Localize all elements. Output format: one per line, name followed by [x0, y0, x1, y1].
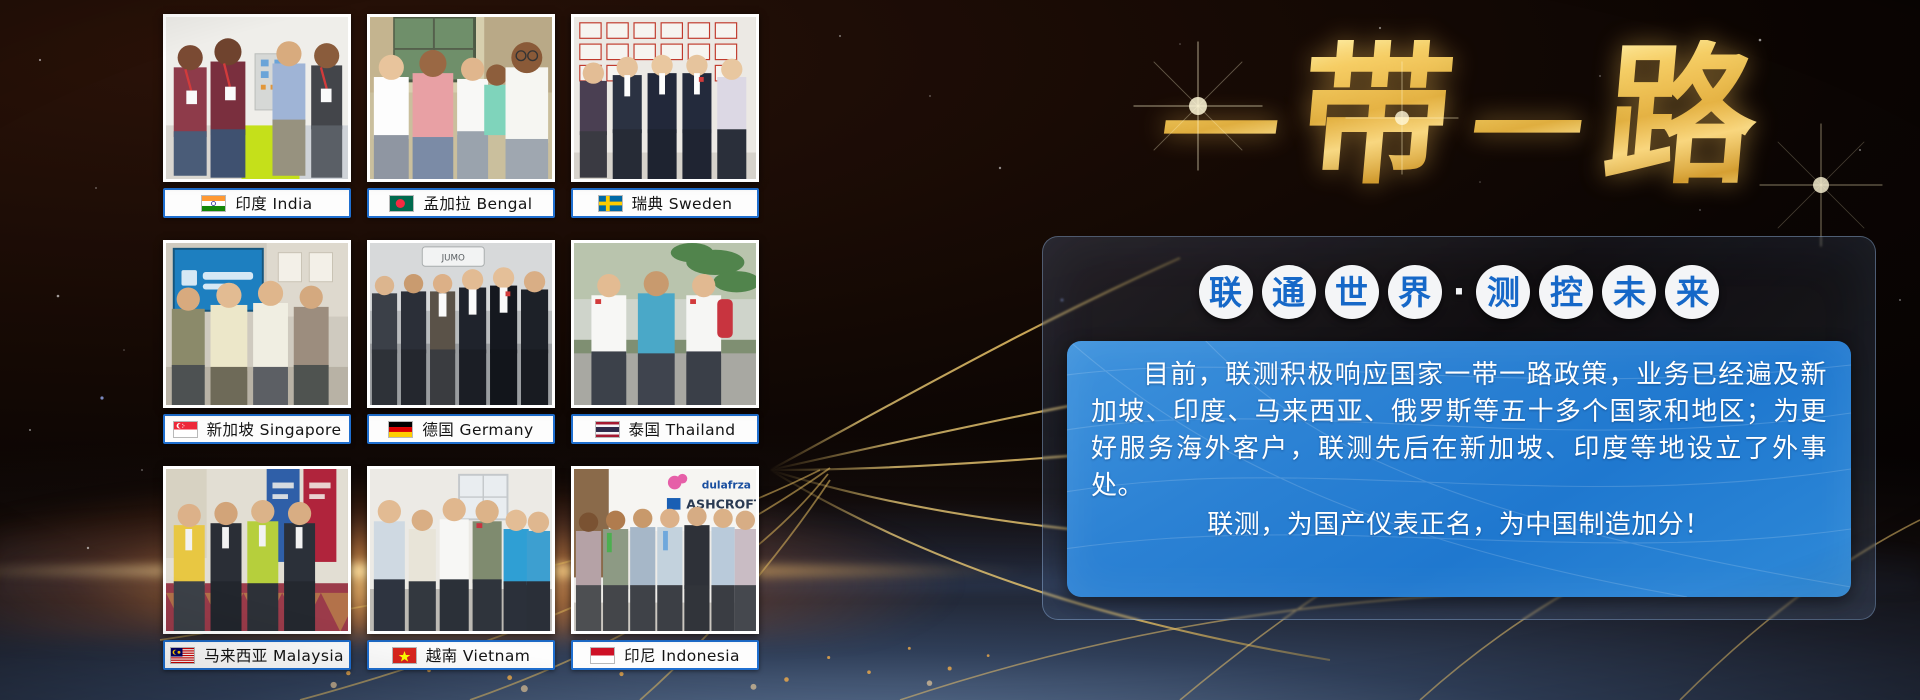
photo-germany: JUMO	[370, 243, 552, 406]
country-card[interactable]: 新加坡 Singapore	[163, 240, 351, 458]
country-photo	[367, 14, 555, 182]
slogan-char-3: 世	[1325, 265, 1379, 319]
flag-icon-bangladesh	[389, 195, 414, 212]
headline-calligraphy: 一 带 一 路	[1020, 8, 1900, 223]
country-caption: 德国 Germany	[367, 414, 555, 444]
headline-char-3: 一	[1463, 76, 1591, 188]
country-photo: JUMO	[367, 240, 555, 408]
banner-stage: 印度 India	[0, 0, 1920, 700]
flag-icon-indonesia	[590, 647, 615, 664]
photo-india	[166, 17, 348, 180]
photo-thailand	[574, 243, 756, 406]
slogan-char-1: 联	[1199, 265, 1253, 319]
photo-singapore	[166, 243, 348, 406]
country-label: 印尼 Indonesia	[624, 644, 740, 666]
photo-malaysia	[166, 469, 348, 632]
country-caption: 马来西亚 Malaysia	[163, 640, 351, 670]
country-caption: 印尼 Indonesia	[571, 640, 759, 670]
country-photo	[367, 466, 555, 634]
country-photo: dulafrza ASHCROFT	[571, 466, 759, 634]
country-label: 新加坡 Singapore	[207, 418, 342, 440]
headline-char-4: 路	[1598, 40, 1763, 192]
country-card[interactable]: 瑞典 Sweden	[571, 14, 759, 232]
flag-icon-india	[201, 195, 226, 212]
slogan-char-2: 通	[1262, 265, 1316, 319]
country-card[interactable]: 印度 India	[163, 14, 351, 232]
flag-icon-malaysia	[170, 647, 195, 664]
flag-icon-singapore	[173, 421, 198, 438]
country-caption: 印度 India	[163, 188, 351, 218]
country-card[interactable]: 马来西亚 Malaysia	[163, 466, 351, 684]
photo-bengal	[370, 17, 552, 180]
headline-char-2: 带	[1294, 40, 1459, 192]
slogan-char-6: 控	[1539, 265, 1593, 319]
country-caption: 越南 Vietnam	[367, 640, 555, 670]
country-photo	[163, 240, 351, 408]
slogan-char-7: 未	[1602, 265, 1656, 319]
country-label: 德国 Germany	[422, 418, 533, 440]
description-tagline: 联测，为国产仪表正名，为中国制造加分！	[1091, 507, 1827, 544]
country-caption: 泰国 Thailand	[571, 414, 759, 444]
country-photo	[571, 240, 759, 408]
country-card[interactable]: dulafrza ASHCROFT	[571, 466, 759, 684]
country-label: 瑞典 Sweden	[632, 192, 733, 214]
headline-char-1: 一	[1152, 73, 1287, 191]
country-photo	[163, 466, 351, 634]
country-label: 泰国 Thailand	[629, 418, 736, 440]
info-panel: 联 通 世 界 · 测 控 未 来 目前，联测积极响应国家一带一路政策，业	[1042, 236, 1876, 620]
country-label: 印度 India	[235, 192, 312, 214]
photo-vietnam	[370, 469, 552, 632]
country-photo	[163, 14, 351, 182]
slogan-row: 联 通 世 界 · 测 控 未 来	[1043, 259, 1875, 325]
slogan-char-5: 测	[1476, 265, 1530, 319]
country-caption: 孟加拉 Bengal	[367, 188, 555, 218]
country-card[interactable]: 泰国 Thailand	[571, 240, 759, 458]
country-label: 马来西亚 Malaysia	[204, 644, 344, 666]
description-box: 目前，联测积极响应国家一带一路政策，业务已经遍及新加坡、印度、马来西亚、俄罗斯等…	[1067, 341, 1851, 597]
flag-icon-sweden	[598, 195, 623, 212]
slogan-char-4: 界	[1388, 265, 1442, 319]
flag-icon-vietnam	[392, 647, 417, 664]
country-label: 越南 Vietnam	[426, 644, 531, 666]
country-photo	[571, 14, 759, 182]
photo-indonesia: dulafrza ASHCROFT	[574, 469, 756, 632]
photo-sweden	[574, 17, 756, 180]
country-photo-grid: 印度 India	[163, 14, 763, 686]
slogan-char-8: 来	[1665, 265, 1719, 319]
country-card[interactable]: 越南 Vietnam	[367, 466, 555, 684]
country-card[interactable]: 孟加拉 Bengal	[367, 14, 555, 232]
country-caption: 瑞典 Sweden	[571, 188, 759, 218]
svg-text:JUMO: JUMO	[441, 253, 465, 263]
description-paragraph: 目前，联测积极响应国家一带一路政策，业务已经遍及新加坡、印度、马来西亚、俄罗斯等…	[1091, 357, 1827, 505]
country-caption: 新加坡 Singapore	[163, 414, 351, 444]
country-label: 孟加拉 Bengal	[423, 192, 532, 214]
svg-text:dulafrza: dulafrza	[702, 478, 751, 491]
country-card[interactable]: JUMO	[367, 240, 555, 458]
slogan-separator: ·	[1453, 272, 1466, 312]
flag-icon-thailand	[595, 421, 620, 438]
flag-icon-germany	[388, 421, 413, 438]
